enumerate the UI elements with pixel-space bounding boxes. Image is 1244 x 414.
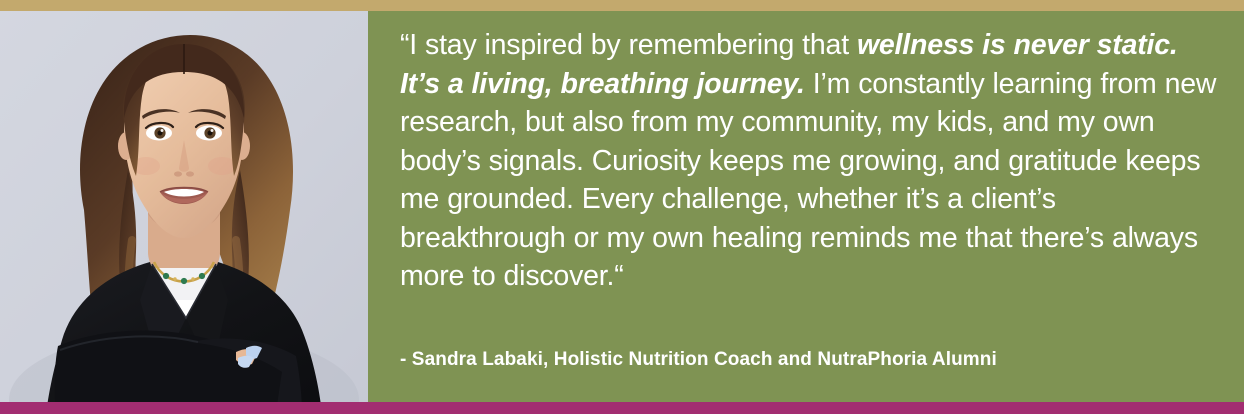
attribution-line: - Sandra Labaki, Holistic Nutrition Coac… bbox=[400, 348, 997, 372]
quote-segment-tail: I’m constantly learning from new researc… bbox=[400, 68, 1216, 293]
quote-block: “I stay inspired by remembering that wel… bbox=[400, 26, 1218, 296]
quote-panel: “I stay inspired by remembering that wel… bbox=[368, 0, 1244, 414]
testimonial-card: “I stay inspired by remembering that wel… bbox=[0, 0, 1244, 414]
quote-open-mark: “ bbox=[400, 29, 409, 61]
portrait-photo-panel bbox=[0, 0, 368, 414]
quote-text: “I stay inspired by remembering that wel… bbox=[400, 26, 1218, 296]
top-accent-rule bbox=[0, 0, 1244, 11]
portrait-photo bbox=[0, 0, 368, 414]
bottom-accent-rule bbox=[0, 402, 1244, 414]
quote-close-mark: “ bbox=[614, 260, 623, 292]
quote-segment-lead: I stay inspired by remembering that bbox=[409, 29, 857, 61]
